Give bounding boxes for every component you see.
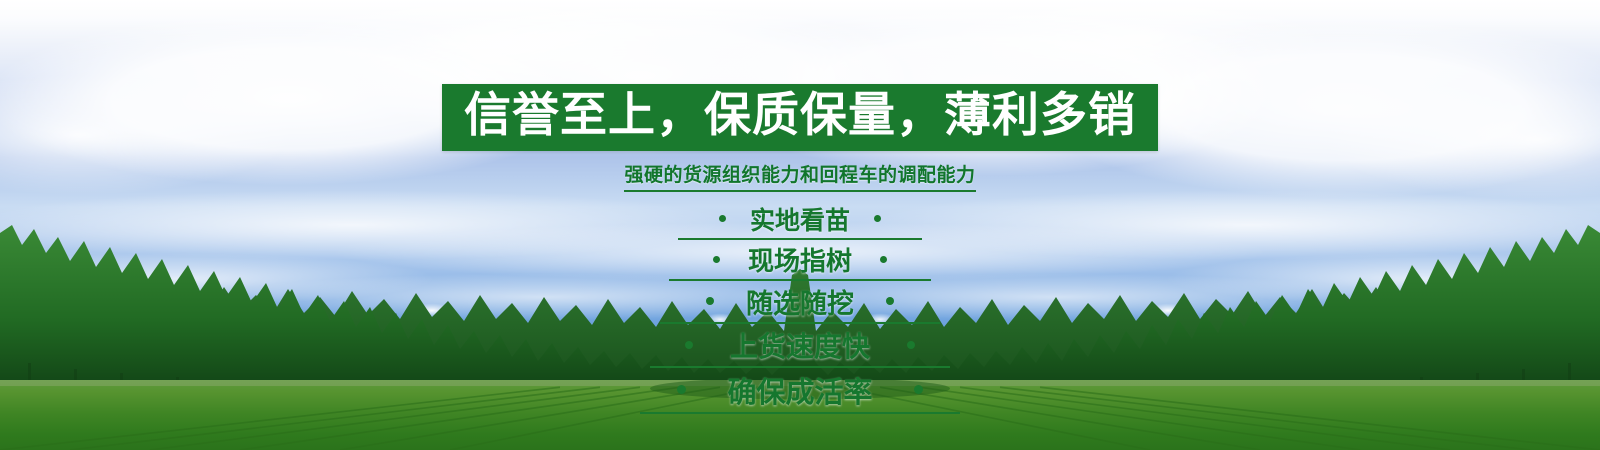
bullet-dot-icon	[907, 341, 915, 349]
feature-label: 实地看苗	[737, 201, 863, 237]
feature-divider	[678, 238, 922, 240]
feature-divider	[660, 322, 940, 324]
subtitle-text: 强硬的货源组织能力和回程车的调配能力	[624, 160, 975, 192]
feature-item-1: 现场指树	[698, 241, 902, 278]
bullet-dot-icon	[685, 341, 693, 349]
feature-item-4: 确保成活率	[649, 369, 950, 411]
feature-divider	[669, 279, 931, 281]
feature-divider	[640, 412, 960, 414]
banner-content: 信誉至上，保质保量，薄利多销 强硬的货源组织能力和回程车的调配能力 实地看苗 现…	[0, 0, 1600, 450]
bullet-dot-icon	[874, 215, 881, 222]
feature-item-0: 实地看苗	[708, 201, 892, 237]
bullet-dot-icon	[886, 297, 894, 305]
bullet-dot-icon	[880, 256, 887, 263]
headline-bar: 信誉至上，保质保量，薄利多销	[442, 84, 1158, 151]
feature-list: 实地看苗 现场指树 随选随挖 上货速度快	[640, 201, 960, 415]
bullet-dot-icon	[719, 215, 726, 222]
feature-divider	[650, 366, 950, 368]
feature-label: 随选随挖	[733, 282, 867, 321]
bullet-dot-icon	[713, 256, 720, 263]
bullet-dot-icon	[677, 385, 686, 394]
bullet-dot-icon	[706, 297, 714, 305]
feature-label: 上货速度快	[717, 325, 883, 365]
feature-label: 现场指树	[735, 241, 865, 278]
bullet-dot-icon	[914, 385, 923, 394]
feature-label: 确保成活率	[714, 369, 885, 411]
hero-banner: 信誉至上，保质保量，薄利多销 强硬的货源组织能力和回程车的调配能力 实地看苗 现…	[0, 0, 1600, 450]
feature-item-3: 上货速度快	[661, 325, 939, 365]
headline-text: 信誉至上，保质保量，薄利多销	[464, 89, 1136, 142]
feature-item-2: 随选随挖	[687, 282, 913, 321]
